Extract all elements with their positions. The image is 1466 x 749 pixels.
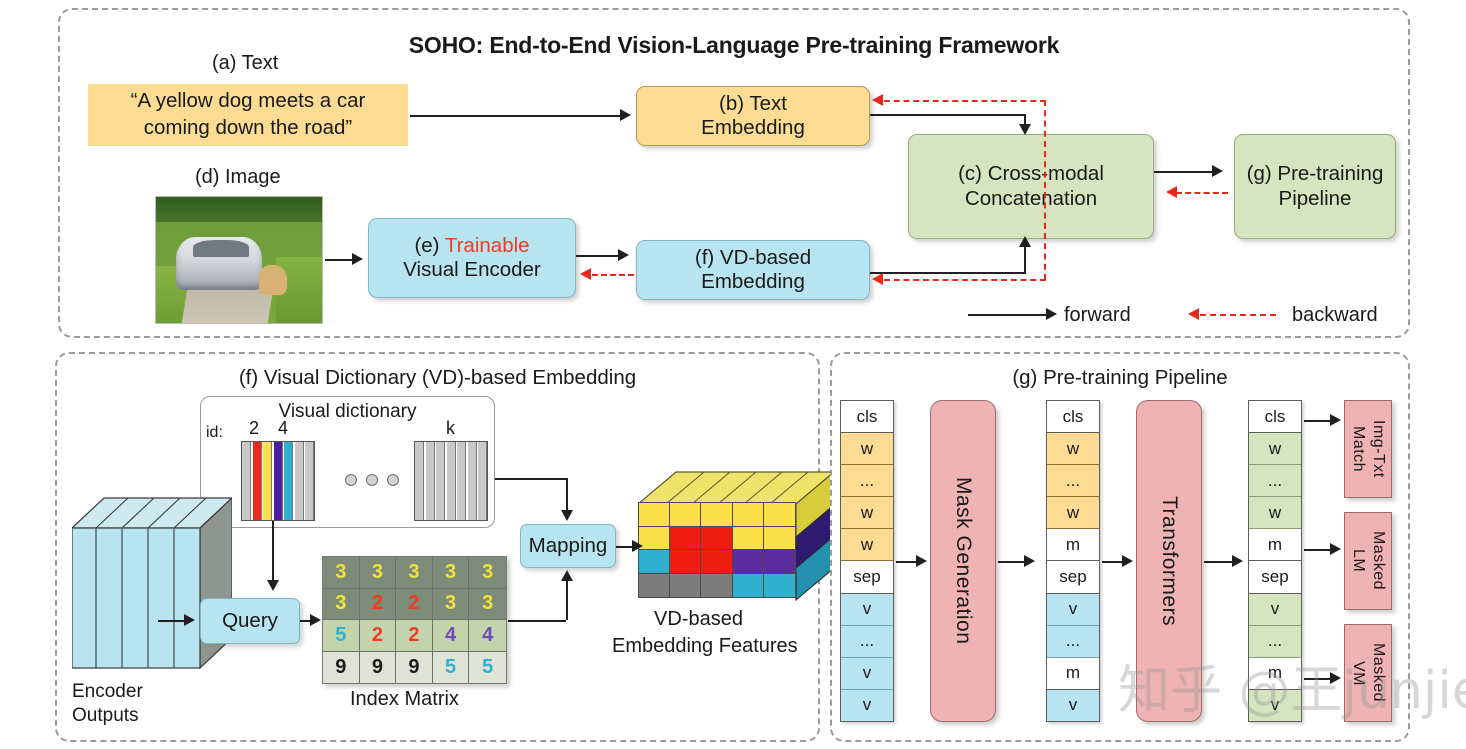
arrow-dict-to-mapping-h xyxy=(495,478,568,480)
encoder-outputs-caption-line1: Encoder xyxy=(72,681,143,703)
token-cell: cls xyxy=(841,401,893,433)
arrow-vdemb-to-cross-h xyxy=(870,272,1026,274)
head0-line2: Match xyxy=(1350,426,1367,472)
index-matrix-cell: 3 xyxy=(469,557,506,589)
ellipsis-dot xyxy=(387,474,399,486)
legend-backward-arrowhead xyxy=(1188,308,1199,320)
ellipsis-dot xyxy=(345,474,357,486)
transformers-box[interactable]: Transformers xyxy=(1136,400,1202,722)
box-text-embedding-line1: (b) Text xyxy=(719,92,787,116)
feature-cube-cell xyxy=(764,550,795,574)
features-caption-line1: VD-based xyxy=(654,608,743,631)
index-matrix-cell: 5 xyxy=(323,620,360,652)
token-cell: m xyxy=(1249,529,1301,561)
token-cell: m xyxy=(1249,658,1301,690)
pipeline-panel: (g) Pre-training Pipeline xyxy=(830,352,1410,742)
head1-line2: LM xyxy=(1350,549,1367,572)
box-cross-modal-line1: (c) Cross-modal xyxy=(958,162,1104,186)
vd-feature-cube xyxy=(638,470,834,600)
index-matrix-cell: 2 xyxy=(360,620,397,652)
box-vd-embedding-line1: (f) VD-based xyxy=(695,246,811,270)
dictionary-bar xyxy=(478,442,487,520)
index-matrix-cell: 3 xyxy=(323,589,360,621)
mask-generation-box[interactable]: Mask Generation xyxy=(930,400,996,722)
query-box[interactable]: Query xyxy=(200,598,300,644)
mask-generation-label: Mask Generation xyxy=(951,477,975,644)
input-text-line2: coming down the road” xyxy=(144,115,353,142)
feature-cube-cell xyxy=(701,527,732,551)
arrow-text-to-textemb xyxy=(410,115,622,117)
index-matrix-cell: 9 xyxy=(396,652,433,684)
box-cross-modal-line2: Concatenation xyxy=(965,187,1097,211)
head-img-txt-match-label: Img-TxtMatch xyxy=(1348,420,1388,478)
vd-panel-title: (f) Visual Dictionary (VD)-based Embeddi… xyxy=(57,366,818,390)
visual-dictionary-id-label: id: xyxy=(206,424,223,442)
token-cell: ... xyxy=(1249,465,1301,497)
backward-vdemb-to-encoder xyxy=(592,274,634,276)
arrow-textemb-to-cross-head xyxy=(1019,124,1031,135)
token-cell: w xyxy=(1249,433,1301,465)
image-caption: (d) Image xyxy=(195,166,281,189)
token-cell: ... xyxy=(1047,465,1099,497)
visual-dictionary-id-2: 2 xyxy=(249,418,259,439)
arrow-encoder-to-query xyxy=(158,620,186,622)
token-cell: cls xyxy=(1047,401,1099,433)
feature-cube-cell xyxy=(670,550,701,574)
visual-dictionary-bars-right[interactable] xyxy=(414,441,488,521)
box-trainable-visual-encoder[interactable]: (e) Trainable Visual Encoder xyxy=(368,218,576,298)
encoder-outputs-caption-line2: Outputs xyxy=(72,705,139,727)
token-column-input[interactable]: clsw...wwsepv...vv xyxy=(840,400,894,722)
token-cell: v xyxy=(1047,690,1099,721)
arrow-tok1-to-mask-head xyxy=(916,555,927,567)
feature-cube-cell xyxy=(701,550,732,574)
feature-cube-cell xyxy=(733,503,764,527)
arrow-cls-to-imgtxt-head xyxy=(1330,414,1341,426)
feature-cube-front xyxy=(638,502,796,598)
legend-forward-line xyxy=(968,314,1050,316)
feature-cube-cell xyxy=(670,527,701,551)
token-cell: w xyxy=(841,497,893,529)
token-cell: v xyxy=(1249,594,1301,626)
box-pretraining-pipeline-line2: Pipeline xyxy=(1279,187,1352,211)
box-encoder-line1: (e) Trainable xyxy=(414,234,529,258)
dictionary-bar xyxy=(274,442,283,520)
token-cell: m xyxy=(1047,658,1099,690)
arrow-dict-to-mapping-v xyxy=(566,478,568,512)
token-cell: ... xyxy=(1047,626,1099,658)
dictionary-bar xyxy=(253,442,262,520)
box-pretraining-pipeline-line1: (g) Pre-training xyxy=(1247,162,1384,186)
arrow-encoder-to-vdemb-head xyxy=(618,249,629,261)
arrow-matrix-to-mapping-head xyxy=(561,570,573,581)
backward-pipeline-to-cross-head xyxy=(1166,186,1177,198)
features-caption-line2: Embedding Features xyxy=(612,635,798,658)
transformers-label: Transformers xyxy=(1157,496,1181,626)
dictionary-bar xyxy=(447,442,456,520)
mapping-box[interactable]: Mapping xyxy=(520,524,616,568)
head1-line1: Masked xyxy=(1370,531,1387,590)
index-matrix-cell: 3 xyxy=(433,589,470,621)
dictionary-bar xyxy=(263,442,272,520)
dictionary-bar xyxy=(284,442,293,520)
index-matrix-cell: 3 xyxy=(396,557,433,589)
visual-dictionary-id-4: 4 xyxy=(278,418,288,439)
index-matrix-cell: 3 xyxy=(323,557,360,589)
arrow-matrix-to-mapping-v xyxy=(566,580,568,620)
legend-forward-arrowhead xyxy=(1046,308,1057,320)
backward-trunk-vertical xyxy=(1044,100,1046,280)
photo-windshield xyxy=(193,240,249,258)
index-matrix-cell: 2 xyxy=(396,589,433,621)
backward-trunk-to-vdemb-head xyxy=(872,273,883,285)
feature-cube-cell xyxy=(639,574,670,598)
index-matrix-cell: 9 xyxy=(323,652,360,684)
arrow-matrix-to-mapping-h xyxy=(508,620,566,622)
arrow-vdemb-to-cross-v xyxy=(1024,246,1026,274)
visual-dictionary-ellipsis xyxy=(345,474,399,486)
arrow-text-to-textemb-head xyxy=(620,109,631,121)
token-cell: cls xyxy=(1249,401,1301,433)
index-matrix-cell: 3 xyxy=(360,557,397,589)
index-matrix-cell: 3 xyxy=(433,557,470,589)
token-cell: w xyxy=(841,529,893,561)
head-masked-lm[interactable]: MaskedLM xyxy=(1344,512,1392,610)
box-vd-embedding-line2: Embedding xyxy=(701,270,805,294)
feature-cube-cell xyxy=(670,503,701,527)
token-cell: v xyxy=(1047,594,1099,626)
token-cell: w xyxy=(1249,497,1301,529)
feature-cube-cell xyxy=(639,550,670,574)
index-matrix-cell: 3 xyxy=(469,589,506,621)
arrow-image-to-encoder xyxy=(325,259,355,261)
feature-cube-cell xyxy=(764,574,795,598)
arrow-dict-to-mapping-head xyxy=(561,510,573,521)
arrow-encoder-to-query-head xyxy=(184,614,195,626)
legend-backward-line xyxy=(1200,314,1276,316)
token-cell: v xyxy=(841,658,893,690)
token-cell: ... xyxy=(841,626,893,658)
arrow-vdemb-to-cross-head xyxy=(1019,236,1031,247)
index-matrix-cell: 2 xyxy=(360,589,397,621)
head-masked-vm[interactable]: MaskedVM xyxy=(1344,624,1392,722)
dictionary-bar xyxy=(426,442,435,520)
backward-trunk-to-vdemb xyxy=(884,279,1046,281)
feature-cube-cell xyxy=(764,527,795,551)
legend-backward-label: backward xyxy=(1292,304,1378,327)
token-cell: v xyxy=(841,594,893,626)
visual-dictionary-bars-left[interactable] xyxy=(241,441,315,521)
mapping-label: Mapping xyxy=(529,534,608,558)
feature-cube-cell xyxy=(733,574,764,598)
arrow-m-to-maskedvm-head xyxy=(1330,672,1341,684)
arrow-encoder-to-vdemb xyxy=(576,255,620,257)
query-label: Query xyxy=(222,609,278,633)
token-cell: w xyxy=(1047,497,1099,529)
token-cell: v xyxy=(1249,690,1301,721)
head0-line1: Img-Txt xyxy=(1370,420,1387,478)
index-matrix-cell: 9 xyxy=(360,652,397,684)
token-cell: w xyxy=(1047,433,1099,465)
encoder-cube-svg xyxy=(72,488,232,672)
arrow-query-to-matrix-head xyxy=(310,614,321,626)
arrow-mask-to-tok2-head xyxy=(1024,555,1035,567)
feature-cube-cell xyxy=(701,574,732,598)
token-cell: m xyxy=(1047,529,1099,561)
head-masked-vm-label: MaskedVM xyxy=(1348,643,1388,702)
visual-dictionary-id-k: k xyxy=(446,418,455,439)
backward-vdemb-to-encoder-head xyxy=(580,268,591,280)
token-cell: sep xyxy=(841,561,893,593)
index-matrix-cell: 5 xyxy=(433,652,470,684)
dictionary-bar xyxy=(242,442,251,520)
input-text-block: “A yellow dog meets a car coming down th… xyxy=(88,84,408,146)
dictionary-bar xyxy=(468,442,477,520)
box-encoder-prefix: (e) xyxy=(414,234,444,257)
index-matrix[interactable]: 33333322335224499955 xyxy=(322,556,507,684)
feature-cube-cell xyxy=(670,574,701,598)
dictionary-bar xyxy=(305,442,314,520)
arrow-m-to-maskedlm-head xyxy=(1330,543,1341,555)
token-cell: ... xyxy=(841,465,893,497)
token-cell: sep xyxy=(1249,561,1301,593)
pipeline-panel-title: (g) Pre-training Pipeline xyxy=(832,366,1408,390)
head2-line1: Masked xyxy=(1370,643,1387,702)
encoder-outputs-cube xyxy=(72,488,232,672)
index-matrix-cell: 4 xyxy=(469,620,506,652)
photo-sky xyxy=(156,197,322,222)
legend-forward-label: forward xyxy=(1064,304,1131,327)
token-column-output[interactable]: clsw...wmsepv...mv xyxy=(1248,400,1302,722)
input-text-line1: “A yellow dog meets a car xyxy=(131,88,366,115)
arrow-cross-to-pipeline xyxy=(1154,171,1216,173)
feature-cube-cell xyxy=(639,503,670,527)
box-text-embedding-line2: Embedding xyxy=(701,116,805,140)
feature-cube-cell xyxy=(764,503,795,527)
ellipsis-dot xyxy=(366,474,378,486)
dictionary-bar xyxy=(415,442,424,520)
box-pretraining-pipeline[interactable]: (g) Pre-training Pipeline xyxy=(1234,134,1396,239)
dictionary-bar xyxy=(457,442,466,520)
token-column-masked[interactable]: clsw...wmsepv...mv xyxy=(1046,400,1100,722)
box-vd-based-embedding[interactable]: (f) VD-based Embedding xyxy=(636,240,870,300)
box-encoder-trainable-word: Trainable xyxy=(445,234,530,257)
input-image-photo xyxy=(155,196,323,324)
feature-cube-cell xyxy=(701,503,732,527)
text-caption: (a) Text xyxy=(212,52,278,75)
index-matrix-caption: Index Matrix xyxy=(350,688,459,711)
arrow-tok2-to-transformers-head xyxy=(1122,555,1133,567)
head-img-txt-match[interactable]: Img-TxtMatch xyxy=(1344,400,1392,498)
token-cell: v xyxy=(841,690,893,721)
dictionary-bar xyxy=(436,442,445,520)
box-text-embedding[interactable]: (b) Text Embedding xyxy=(636,86,870,146)
arrow-textemb-to-cross-h xyxy=(870,114,1026,116)
feature-cube-cell xyxy=(639,527,670,551)
backward-trunk-to-textemb xyxy=(884,100,1046,102)
photo-dog xyxy=(259,265,287,295)
arrow-image-to-encoder-head xyxy=(352,253,363,265)
token-cell: w xyxy=(841,433,893,465)
box-cross-modal-concatenation[interactable]: (c) Cross-modal Concatenation xyxy=(908,134,1154,239)
index-matrix-cell: 5 xyxy=(469,652,506,684)
index-matrix-cell: 4 xyxy=(433,620,470,652)
arrow-dict-to-query-v xyxy=(272,521,274,583)
arrow-dict-to-query-head xyxy=(267,580,279,591)
box-encoder-line2: Visual Encoder xyxy=(403,258,541,282)
arrow-mapping-to-cube-head xyxy=(632,540,643,552)
dictionary-bar xyxy=(295,442,304,520)
backward-pipeline-to-cross xyxy=(1176,192,1228,194)
feature-cube-cell xyxy=(733,550,764,574)
token-cell: sep xyxy=(1047,561,1099,593)
arrow-cross-to-pipeline-head xyxy=(1212,165,1223,177)
token-cell: ... xyxy=(1249,626,1301,658)
head2-line2: VM xyxy=(1350,661,1367,686)
head-masked-lm-label: MaskedLM xyxy=(1348,531,1388,590)
feature-cube-cell xyxy=(733,527,764,551)
index-matrix-cell: 2 xyxy=(396,620,433,652)
arrow-transformers-to-tok3-head xyxy=(1232,555,1243,567)
backward-trunk-to-textemb-head xyxy=(872,94,883,106)
